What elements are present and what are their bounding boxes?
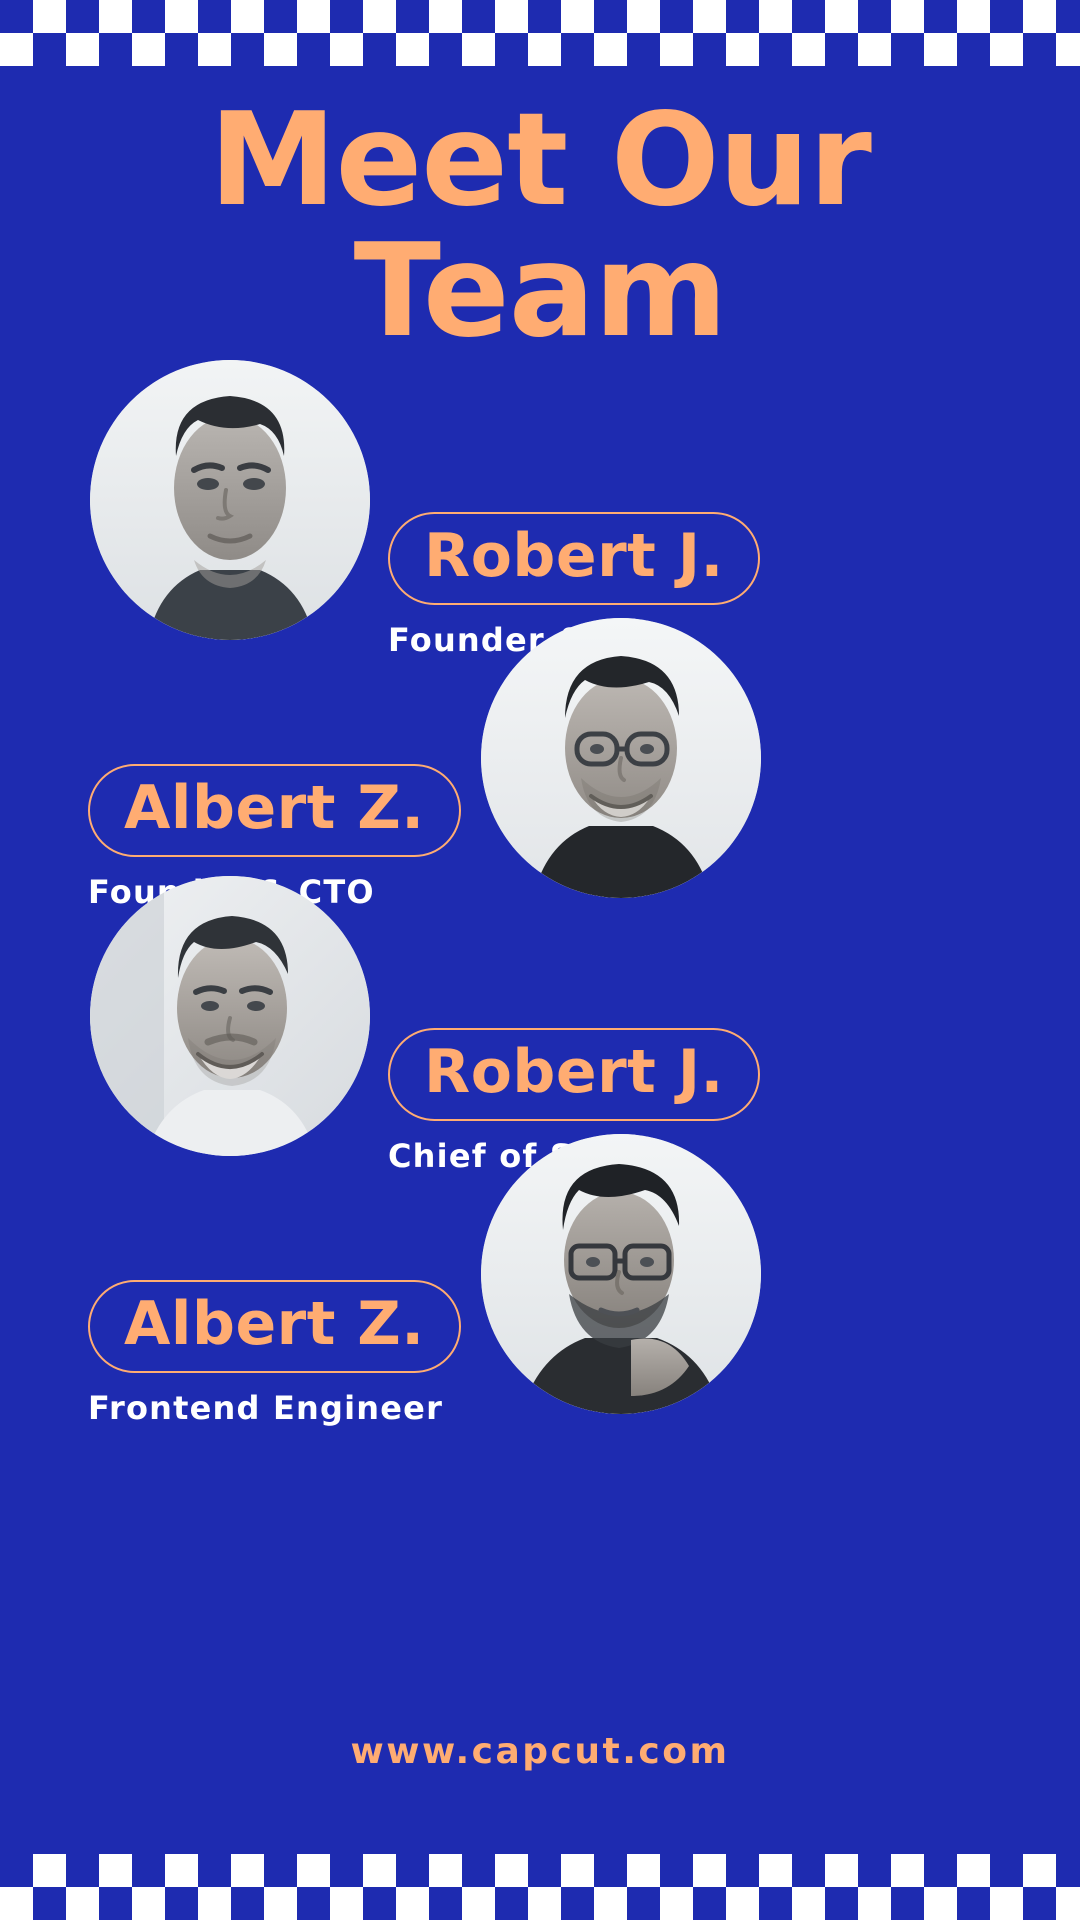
avatar [90, 360, 370, 640]
page-title: Meet Our Team [0, 96, 1080, 357]
website-url[interactable]: www.capcut.com [0, 1731, 1080, 1772]
member-role: Frontend Engineer [88, 1389, 461, 1427]
title-line-2: Team [0, 227, 1080, 358]
portrait-image-3 [90, 876, 370, 1156]
member-name-badge[interactable]: Albert Z. [88, 1280, 461, 1373]
portrait-image-1 [90, 360, 370, 640]
team-list: Robert J. Founder & CEO [0, 360, 1080, 1392]
checkerboard-bottom-border [0, 1854, 1080, 1920]
title-line-1: Meet Our [0, 96, 1080, 227]
avatar [481, 1134, 761, 1414]
member-name-badge[interactable]: Robert J. [388, 512, 760, 605]
team-poster: Meet Our Team [0, 0, 1080, 1920]
team-member-row: Albert Z. Frontend Engineer [0, 1134, 1080, 1392]
portrait-image-4 [481, 1134, 761, 1414]
avatar [481, 618, 761, 898]
team-member-row: Albert Z. Founder & CTO [0, 618, 1080, 876]
member-name-badge[interactable]: Robert J. [388, 1028, 760, 1121]
team-member-row: Robert J. Founder & CEO [0, 360, 1080, 618]
member-name-badge[interactable]: Albert Z. [88, 764, 461, 857]
member-info: Albert Z. Frontend Engineer [88, 1280, 461, 1427]
portrait-image-2 [481, 618, 761, 898]
checkerboard-top-border [0, 0, 1080, 66]
team-member-row: Robert J. Chief of Staff [0, 876, 1080, 1134]
avatar [90, 876, 370, 1156]
